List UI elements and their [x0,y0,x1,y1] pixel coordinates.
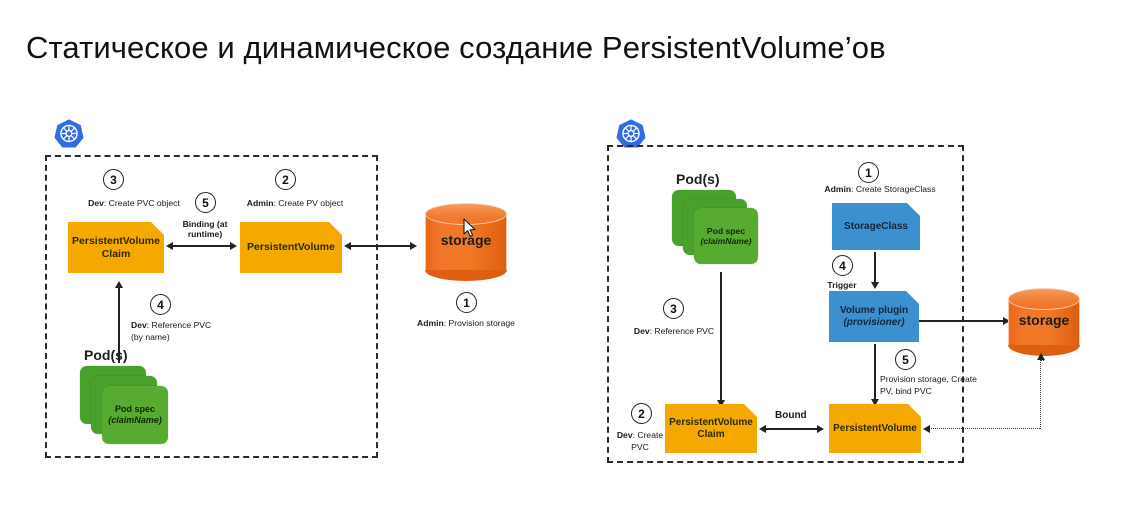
pv-storage-dotted-corner [1040,360,1044,361]
step-caption-5: Binding (at runtime) [168,219,242,239]
pv-label-line1-right: PersistentVolume [833,423,917,435]
pv-label-line1: PersistentVolume [247,241,335,253]
binding-arrow-right [230,242,237,250]
pods-label-left: Pod(s) [84,347,128,363]
step-number-2: 2 [275,169,296,190]
step-role-1-right: Admin [824,184,851,194]
step-role-2: Admin [247,198,274,208]
pod-card-front: Pod spec (claimName) [102,386,168,444]
step-text-1: : Provision storage [444,318,515,328]
pod-spec-line1-right: Pod spec [707,226,745,236]
step-number-4: 4 [150,294,171,315]
pvc-label-line1: PersistentVolume [72,235,160,247]
step-caption-2: Admin: Create PV object [225,198,365,210]
step-caption-5-right: Provision storage, Create PV, bind PVC [880,374,988,397]
step-caption-3: Dev: Create PVC object [74,198,194,210]
step-role-3: Dev [88,198,104,208]
trigger-arrowhead [871,282,879,289]
step-number-3: 3 [103,169,124,190]
pv-storage-arrow-left [344,242,351,250]
step-text-2: : Create PV object [273,198,343,208]
plugin-storage-connector [919,320,1007,322]
step-caption-1: Admin: Provision storage [405,318,527,330]
bound-connector [765,428,819,430]
persistentvolume-box-left[interactable]: PersistentVolume [240,222,342,273]
pv-storage-dotted-horizontal [928,428,1040,429]
kubernetes-logo-icon-right [616,118,646,148]
mouse-pointer-icon [463,218,477,238]
step-caption-1-right: Admin: Create StorageClass [810,184,950,196]
pod-pvc-arrowhead [115,281,123,288]
step-text-3: : Create PVC object [104,198,180,208]
kubernetes-logo-icon [54,118,84,148]
pv-storage-arrow-right [410,242,417,250]
pod-stack-right[interactable]: Pod spec (claimName) [672,190,764,266]
bound-label: Bound [775,410,807,421]
storage-label-right: storage [1008,312,1080,328]
pod-card-front-right: Pod spec (claimName) [694,208,758,264]
volume-plugin-line2: (provisioner) [843,317,904,329]
pod-stack-left[interactable]: Pod spec (claimName) [80,366,172,444]
cylinder-top-right [1008,288,1080,310]
pod-pvc-connector-right [720,272,722,403]
pvc-label-line2-right: Claim [697,429,724,441]
storageclass-label: StorageClass [844,221,908,233]
provision-connector [874,344,876,402]
step-number-4-right: 4 [832,255,853,276]
trigger-connector [874,252,876,284]
trigger-label: Trigger [820,280,864,290]
storageclass-box[interactable]: StorageClass [832,203,920,250]
persistentvolumeclaim-box-right[interactable]: PersistentVolume Claim [665,404,757,453]
step-number-5-right: 5 [895,349,916,370]
pod-spec-line1: Pod spec [115,404,155,415]
pod-spec-line2: (claimName) [108,415,162,426]
pvc-label-line2: Claim [102,248,131,260]
persistentvolume-box-right[interactable]: PersistentVolume [829,404,921,453]
step-number-2-right: 2 [631,403,652,424]
volume-plugin-line1: Volume plugin [840,305,908,317]
pod-spec-line2-right: (claimName) [700,236,751,246]
persistentvolumeclaim-box-left[interactable]: PersistentVolume Claim [68,222,164,273]
binding-connector [172,245,232,247]
pv-storage-dotted-vertical [1040,360,1041,429]
step-text-3-right: : Reference PVC [650,326,714,336]
step-role-3-right: Dev [634,326,650,336]
step-text-2-right: : Create PVC [631,430,663,452]
pv-storage-dotted-arrow-left [923,425,930,433]
step-number-1: 1 [456,292,477,313]
page-title: Статическое и динамическое создание Pers… [26,30,1106,66]
volume-plugin-box[interactable]: Volume plugin (provisioner) [829,291,919,342]
step-role-4: Dev [131,320,147,330]
pods-label-right: Pod(s) [676,171,720,187]
pv-storage-connector [350,245,412,247]
storage-cylinder-right[interactable]: storage [1008,288,1080,356]
step-number-1-right: 1 [858,162,879,183]
pv-storage-dotted-arrowhead [1037,353,1045,360]
binding-arrow-left [166,242,173,250]
storage-cylinder-left[interactable]: storage [425,203,507,281]
step-text-1-right: : Create StorageClass [851,184,936,194]
step-number-5: 5 [195,192,216,213]
step-caption-2-right: Dev: Create PVC [608,430,672,453]
step-caption-3-right: Dev: Reference PVC [628,326,720,338]
step-caption-4: Dev: Reference PVC (by name) [131,320,221,343]
bound-arrow-right [817,425,824,433]
step-role-1: Admin [417,318,444,328]
step-number-3-right: 3 [663,298,684,319]
pvc-label-line1-right: PersistentVolume [669,417,753,429]
step-role-2-right: Dev [617,430,633,440]
bound-arrow-left [759,425,766,433]
